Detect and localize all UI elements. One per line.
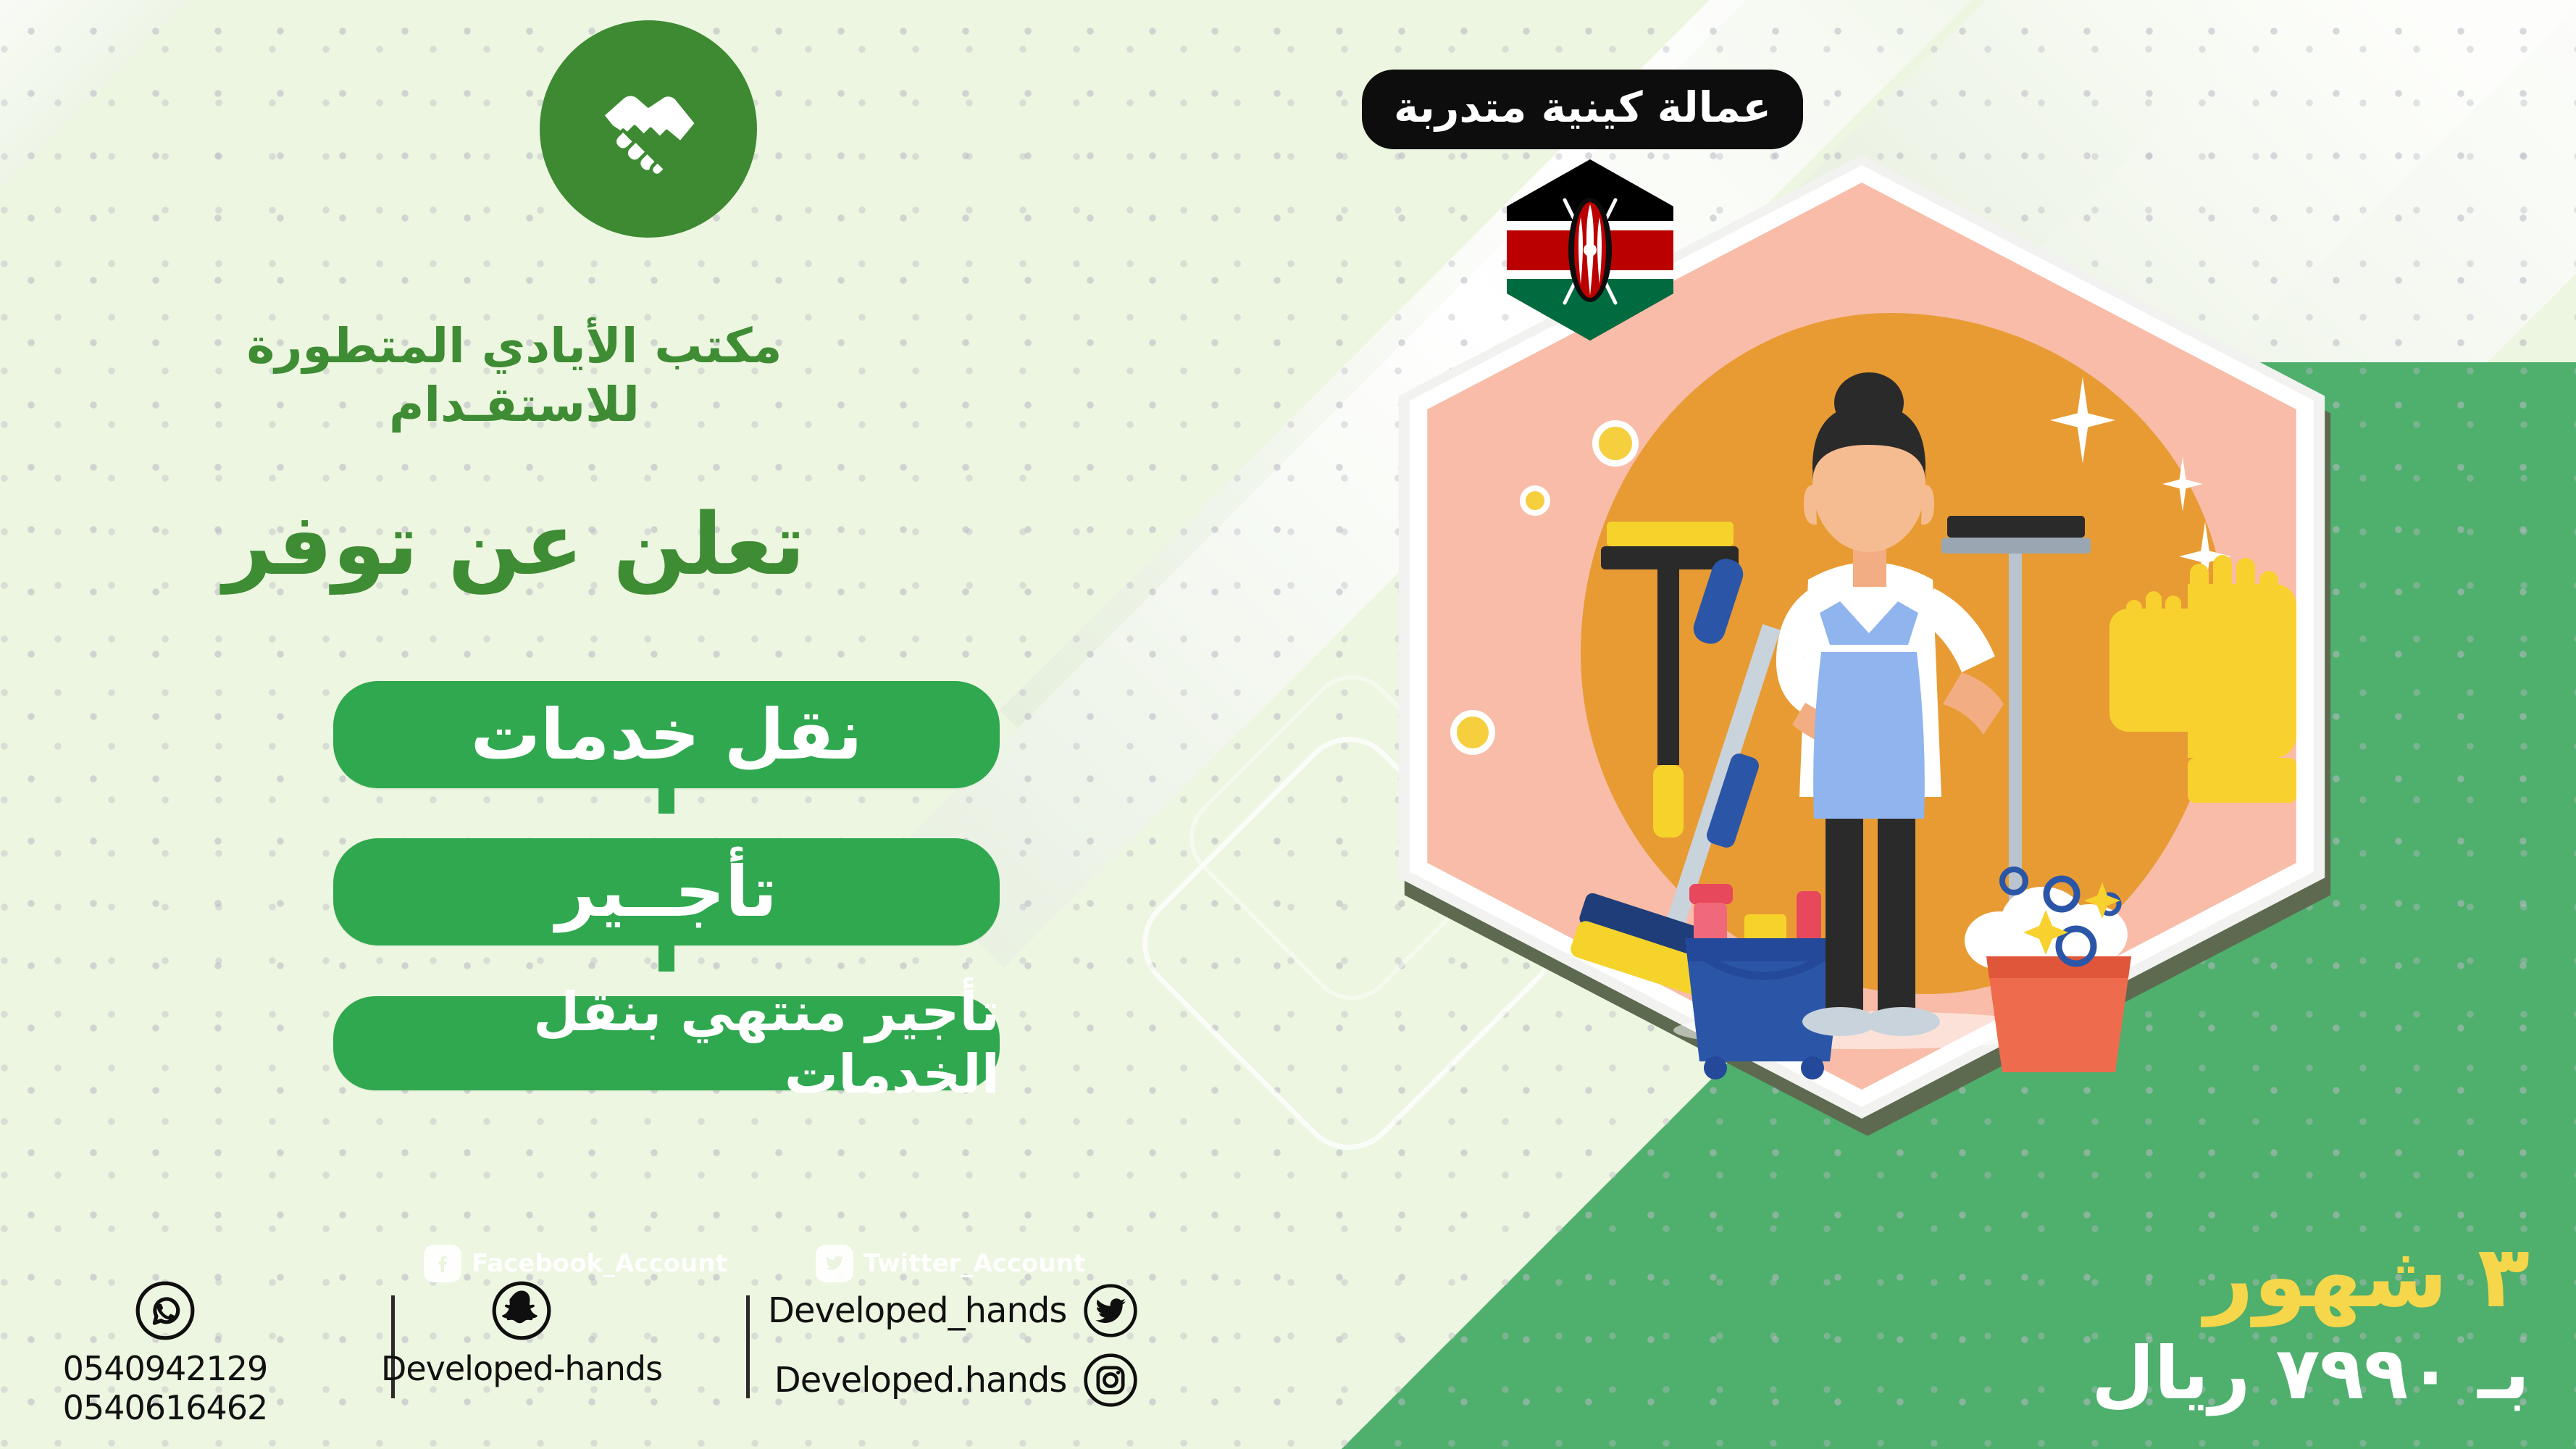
whatsapp-number-2: 0540616462 xyxy=(63,1388,268,1427)
pill-connector-2 xyxy=(658,945,674,972)
twitter-handle: Developed_hands xyxy=(768,1290,1066,1331)
services-list: نقل خدمات تأجــير تأجير منتهي بنقل الخدم… xyxy=(333,681,1000,1090)
snapchat-handle-wrap: Developed-hands xyxy=(381,1349,662,1388)
service-pill-rental[interactable]: تأجــير xyxy=(333,838,1000,945)
company-name-line1: مكتب الأيادي المتطورة xyxy=(247,318,782,374)
price-amount: بـ ٧٩٩٠ ريال xyxy=(2091,1330,2530,1417)
service-pill-transfer[interactable]: نقل خدمات xyxy=(333,681,1000,788)
watermark-facebook: Facebook_Account xyxy=(424,1245,727,1282)
watermark-twitter-label: Twitter_Account xyxy=(863,1249,1086,1278)
kenya-labor-badge: عمالة كينية متدربة xyxy=(1362,70,1803,149)
snapchat-handle: Developed-hands xyxy=(381,1349,662,1388)
whatsapp-numbers: 0540942129 0540616462 xyxy=(63,1349,268,1428)
contact-instagram[interactable]: Developed.hands xyxy=(768,1352,1139,1408)
contact-twitter[interactable]: Developed_hands xyxy=(768,1282,1139,1339)
company-name-line2: للاستقـدام xyxy=(0,376,1029,435)
contact-snapchat[interactable]: Developed-hands xyxy=(369,1279,674,1388)
watermark-facebook-label: Facebook_Account xyxy=(472,1249,727,1278)
advertisement-poster: مكتب الأيادي المتطورة للاستقـدام تعلن عن… xyxy=(0,0,2576,1449)
page-headline: تعلن عن توفر xyxy=(0,500,1029,590)
twitter-icon xyxy=(816,1245,853,1282)
facebook-icon xyxy=(424,1245,461,1282)
contact-whatsapp[interactable]: 0540942129 0540616462 xyxy=(57,1279,274,1428)
whatsapp-icon xyxy=(134,1279,196,1342)
kenya-shield-icon xyxy=(1543,181,1637,319)
price-block: ٣ شهور بـ ٧٩٩٠ ريال xyxy=(2091,1230,2530,1417)
snapchat-icon xyxy=(490,1279,553,1342)
handshake-icon xyxy=(540,20,757,238)
instagram-icon xyxy=(1082,1352,1139,1408)
contact-bar: Facebook_Account Twitter_Account xyxy=(0,1245,1072,1449)
pill-connector-1 xyxy=(658,788,674,814)
company-name: مكتب الأيادي المتطورة للاستقـدام xyxy=(0,317,1029,434)
left-content-column: مكتب الأيادي المتطورة للاستقـدام تعلن عن… xyxy=(0,0,1072,1449)
service-pill-rent-to-transfer[interactable]: تأجير منتهي بنقل الخدمات xyxy=(333,996,1000,1090)
whatsapp-number-1: 0540942129 xyxy=(63,1349,268,1388)
price-duration: ٣ شهور xyxy=(2091,1230,2530,1324)
twitter-bird-icon xyxy=(1082,1282,1139,1339)
watermark-row: Facebook_Account Twitter_Account xyxy=(424,1245,1085,1282)
contact-divider-2 xyxy=(746,1295,750,1398)
watermark-twitter: Twitter_Account xyxy=(816,1245,1086,1282)
brand-logo xyxy=(540,20,757,238)
instagram-handle: Developed.hands xyxy=(774,1360,1067,1400)
social-handles: Developed_hands Developed.hands xyxy=(768,1282,1139,1408)
